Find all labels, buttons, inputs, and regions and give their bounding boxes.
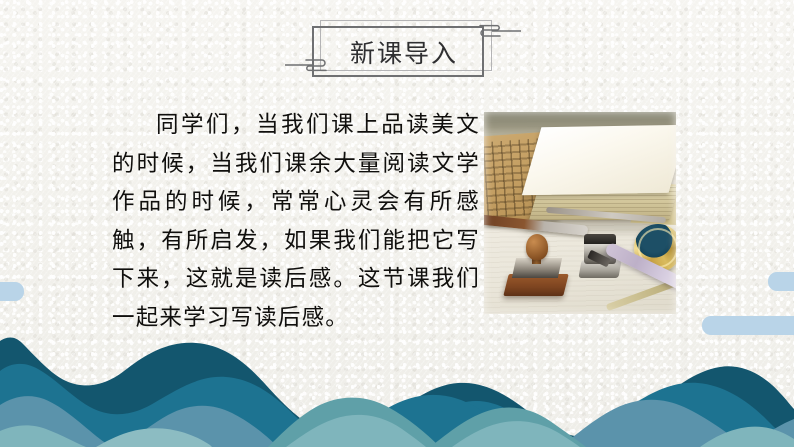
photo-stamp-knob bbox=[526, 234, 548, 260]
photo-paper-stack-top bbox=[522, 125, 676, 196]
decor-bar-left bbox=[0, 282, 24, 301]
slide-canvas: 新课导入 同学们，当我们课上品读美文的时候，当我们课余大量阅读文学作品的时候，常… bbox=[0, 0, 794, 447]
decor-bar-right-upper bbox=[768, 272, 794, 291]
lesson-intro-paragraph: 同学们，当我们课上品读美文的时候，当我们课余大量阅读文学作品的时候，常常心灵会有… bbox=[112, 106, 480, 337]
title-block: 新课导入 bbox=[302, 17, 502, 79]
page-title: 新课导入 bbox=[312, 26, 484, 77]
desk-stationery-photo bbox=[484, 112, 676, 314]
bottom-wave-decoration bbox=[0, 327, 794, 447]
